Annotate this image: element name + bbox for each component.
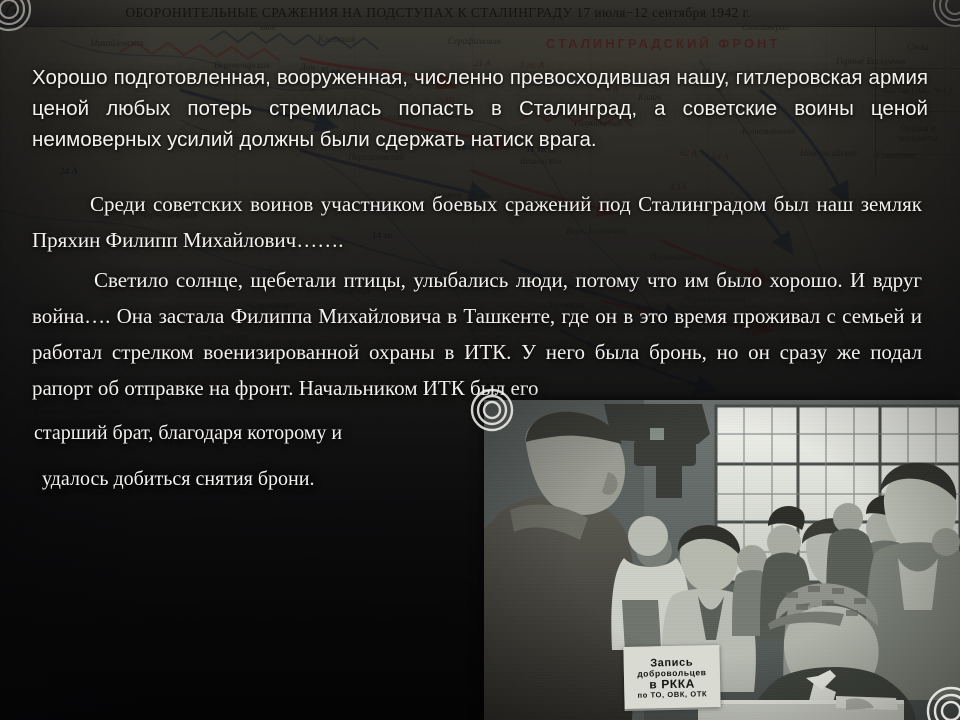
paragraph-biography: Светило солнце, щебетали птицы, улыбалис… — [32, 262, 922, 406]
paragraph-exemption: удалось добиться снятия брони. — [34, 462, 504, 496]
slide-canvas: Михайловская Верхнечирская Клетская Сера… — [0, 0, 960, 720]
paragraph-hero-intro: Среди советских воинов участником боевых… — [32, 186, 922, 258]
sign-line-4: по ТО, ОВК, ОТК — [637, 690, 707, 699]
paragraph-brother: старший брат, благодаря которому и — [34, 416, 504, 450]
enlistment-sign: Запись добровольцев в РККА по ТО, ОВК, О… — [623, 645, 720, 709]
paragraph-intro: Хорошо подготовленная, вооруженная, числ… — [32, 62, 928, 155]
historical-photo — [484, 400, 960, 720]
photo-artwork — [484, 400, 960, 720]
